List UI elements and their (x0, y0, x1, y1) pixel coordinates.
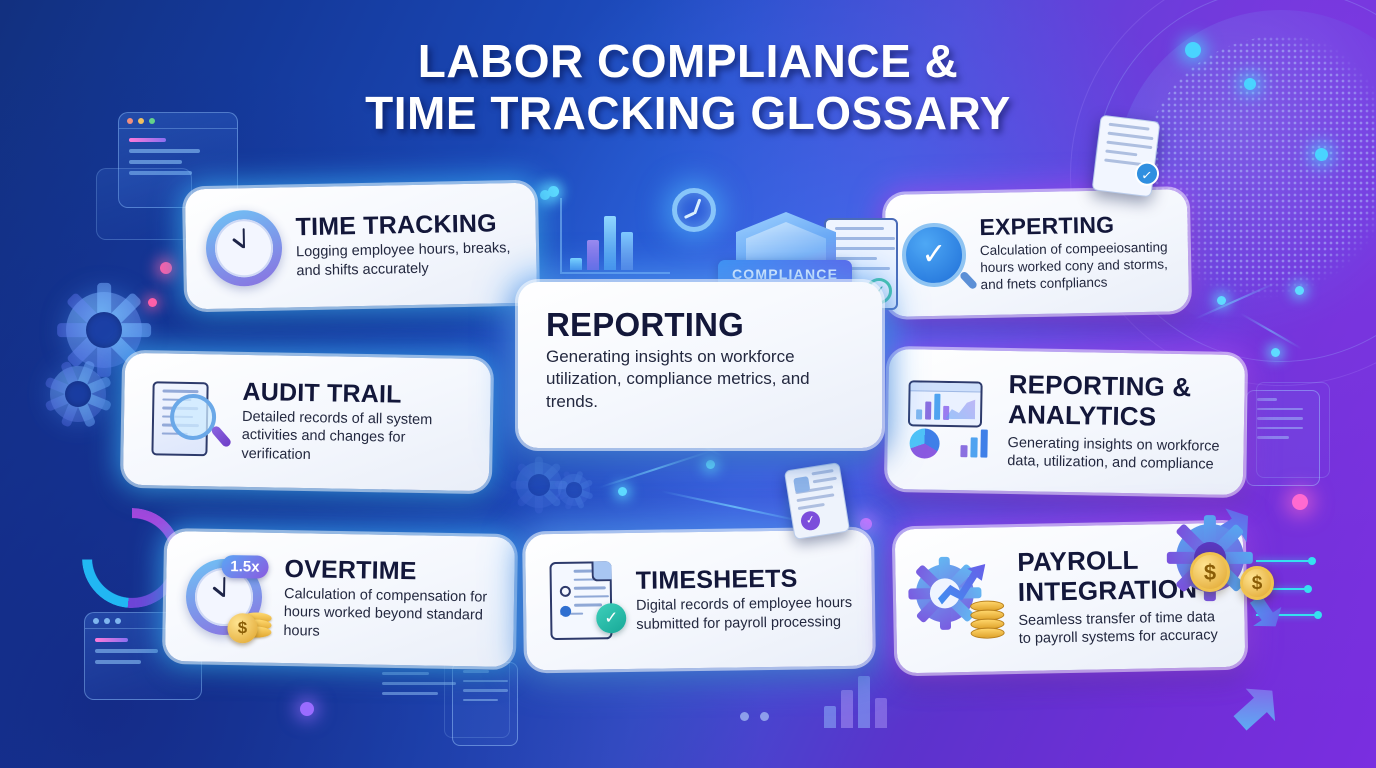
network-line (661, 490, 808, 523)
network-node (618, 487, 627, 496)
clock-coins-icon: 1.5x $ (185, 558, 262, 635)
card-heading: TIME TRACKING (295, 210, 515, 240)
card-text: TIME TRACKING Logging employee hours, br… (295, 210, 516, 281)
glow-dot (1292, 494, 1308, 510)
dot-decoration (760, 712, 769, 721)
clock-bullet-icon (560, 586, 571, 597)
card-text: OVERTIME Calculation of compensation for… (283, 556, 494, 645)
glow-dot (300, 702, 314, 716)
bar-chart-bars (570, 216, 633, 270)
title-line-2: TIME TRACKING GLOSSARY (0, 88, 1376, 140)
page-fold (591, 561, 611, 581)
dashboard-window-icon (908, 380, 983, 427)
card-text: TIMESHEETS Digital records of employee h… (636, 565, 853, 634)
gear-icon (516, 462, 562, 508)
glow-dot (148, 298, 157, 307)
arrow-icon (1225, 676, 1289, 739)
bar-chart-bars (916, 393, 949, 420)
clock-icon (672, 188, 716, 232)
page-title: LABOR COMPLIANCE & TIME TRACKING GLOSSAR… (0, 36, 1376, 139)
gear-icon (50, 366, 106, 422)
card-text: PAYROLL INTEGRATION Seamless transfer of… (1017, 545, 1225, 649)
card-body: Logging employee hours, breaks, and shif… (296, 239, 517, 280)
card-body: Detailed records of all system activitie… (241, 408, 470, 468)
network-node (706, 460, 715, 469)
dot-decoration (740, 712, 749, 721)
card-time-tracking[interactable]: TIME TRACKING Logging employee hours, br… (185, 183, 537, 310)
card-reporting-analytics[interactable]: REPORTING & ANALYTICS Generating insight… (887, 349, 1245, 495)
gear-icon (558, 474, 590, 506)
network-line (1194, 282, 1277, 320)
card-heading-line-2: INTEGRATION (1018, 576, 1224, 607)
card-text: EXPERTING Calculation of compeeiosanting… (979, 211, 1172, 294)
document-outline-icon (452, 662, 518, 746)
text-lines-decoration (382, 672, 460, 712)
coins-icon (960, 595, 1005, 638)
card-timesheets[interactable]: ✓ TIMESHEETS Digital records of employee… (525, 530, 873, 671)
gear-icon (66, 292, 142, 368)
network-node (1271, 348, 1280, 357)
coin-icon: $ (1240, 566, 1274, 600)
glow-dot (860, 518, 872, 530)
document-outline-icon (444, 654, 510, 738)
clock-icon (205, 210, 282, 287)
card-heading-line-1: PAYROLL (1017, 545, 1223, 576)
glow-dot (540, 190, 550, 200)
clock-face (214, 219, 273, 278)
window-titlebar (911, 382, 981, 392)
dashboard-chart-icon (907, 380, 994, 459)
card-overtime[interactable]: 1.5x $ OVERTIME Calculation of compensat… (165, 531, 515, 667)
check-icon: ✓ (596, 603, 626, 633)
infographic-canvas: LABOR COMPLIANCE & TIME TRACKING GLOSSAR… (0, 0, 1376, 768)
coin-icon: $ (227, 613, 258, 644)
card-body: Generating insights on workforce data, u… (1007, 434, 1224, 475)
pie-chart-icon (909, 428, 940, 459)
network-node (1217, 296, 1226, 305)
card-experting[interactable]: ✓ EXPERTING Calculation of compeeiosanti… (885, 189, 1189, 317)
card-heading: EXPERTING (979, 211, 1171, 239)
check-icon: ✓ (800, 510, 822, 532)
card-heading: OVERTIME (284, 556, 494, 586)
card-body: Calculation of compensation for hours wo… (283, 585, 494, 644)
card-text: REPORTING Generating insights on workfor… (546, 308, 854, 422)
circuit-line (1256, 614, 1318, 616)
network-line (599, 449, 714, 488)
card-payroll-integration[interactable]: PAYROLL INTEGRATION Seamless transfer of… (895, 523, 1246, 674)
check-icon: ✓ (1134, 160, 1161, 187)
card-body: Seamless transfer of time data to payrol… (1018, 608, 1225, 649)
filled-bullet-icon (560, 606, 571, 617)
network-node (1295, 286, 1304, 295)
card-heading-line-1: REPORTING & (1008, 371, 1224, 402)
card-reporting[interactable]: REPORTING Generating insights on workfor… (518, 282, 882, 448)
network-line (1240, 313, 1301, 349)
card-audit-trail[interactable]: AUDIT TRAIL Detailed records of all syst… (123, 353, 491, 491)
floating-document-icon: ✓ (1092, 115, 1161, 198)
coins-icon: $ (229, 601, 272, 642)
circuit-line (1256, 560, 1312, 562)
timesheet-doc-icon: ✓ (545, 561, 622, 642)
bar-chart-bars (960, 429, 987, 457)
check-icon: ✓ (901, 222, 966, 287)
title-line-1: LABOR COMPLIANCE & (0, 36, 1376, 88)
circuit-line (1262, 588, 1308, 590)
document-outline-icon (1256, 382, 1330, 478)
card-body: Calculation of compeeiosanting hours wor… (980, 238, 1173, 293)
line-chart-icon (945, 397, 975, 420)
document-outline-icon (1246, 390, 1320, 486)
card-body: Digital records of employee hours submit… (636, 594, 852, 634)
bar-chart-decoration (824, 676, 887, 728)
card-heading-line-2: ANALYTICS (1008, 401, 1224, 432)
arrow-icon (1241, 589, 1288, 636)
avatar-icon (793, 476, 810, 493)
glow-dot (160, 262, 172, 274)
card-text: AUDIT TRAIL Detailed records of all syst… (241, 378, 470, 467)
check-magnifier-icon: ✓ (901, 222, 966, 287)
bar-chart-decoration (560, 198, 670, 274)
overtime-multiplier-badge: 1.5x (221, 555, 269, 579)
code-window-decoration (96, 168, 192, 240)
card-heading: REPORTING (546, 308, 854, 343)
network-node (548, 186, 559, 197)
scroll-magnifier-icon (143, 379, 228, 460)
orbit-dot-icon (1315, 148, 1328, 161)
card-heading: AUDIT TRAIL (242, 378, 470, 408)
card-heading: TIMESHEETS (636, 565, 852, 594)
magnifier-icon (170, 394, 217, 441)
card-body: Generating insights on workforce utiliza… (546, 346, 854, 414)
card-text: REPORTING & ANALYTICS Generating insight… (1007, 371, 1225, 474)
gear-coins-arrow-icon (915, 561, 1004, 639)
floating-document-icon: ✓ (784, 462, 850, 540)
